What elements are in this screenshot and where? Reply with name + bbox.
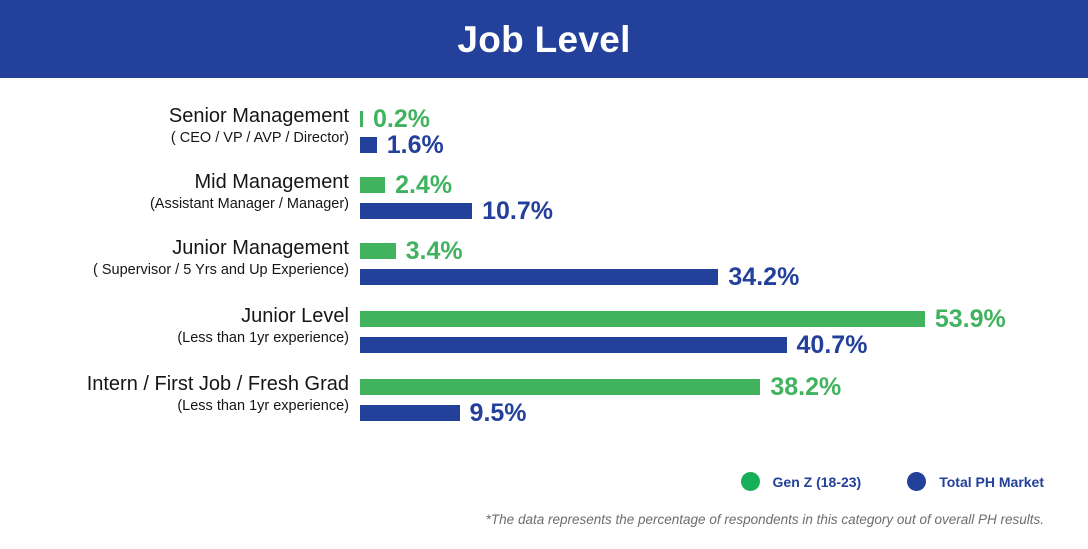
circle-icon [907,472,926,491]
bar-total-ph [360,137,377,153]
chart-plot-area: Senior Management( CEO / VP / AVP / Dire… [0,78,1088,458]
bar-row: 3.4% [360,240,1088,262]
bar-total-ph [360,203,472,219]
bar-genz [360,111,363,127]
bar-group: Mid Management(Assistant Manager / Manag… [0,170,1088,232]
bar-genz [360,243,396,259]
bar-value-label: 40.7% [797,333,868,358]
chart-title: Job Level [457,21,630,58]
category-label: Senior Management( CEO / VP / AVP / Dire… [0,104,360,148]
bar-genz [360,177,385,193]
bar-row: 9.5% [360,402,1088,424]
bar-row: 1.6% [360,134,1088,156]
legend-label: Gen Z (18-23) [773,474,862,490]
bars-block: 3.4%34.2% [360,236,1088,288]
bar-group: Intern / First Job / Fresh Grad(Less tha… [0,372,1088,434]
bar-value-label: 2.4% [395,173,452,198]
category-label-sub: ( Supervisor / 5 Yrs and Up Experience) [0,261,349,280]
category-label-sub: (Less than 1yr experience) [0,397,349,416]
bar-value-label: 34.2% [728,265,799,290]
category-label-main: Senior Management [0,104,349,129]
category-label-main: Junior Management [0,236,349,261]
bar-genz [360,379,760,395]
bars-block: 53.9%40.7% [360,304,1088,356]
bar-value-label: 10.7% [482,199,553,224]
bar-value-label: 38.2% [770,375,841,400]
bar-value-label: 53.9% [935,307,1006,332]
category-label-main: Mid Management [0,170,349,195]
bar-value-label: 1.6% [387,133,444,158]
bar-row: 0.2% [360,108,1088,130]
chart-header-bar: Job Level [0,0,1088,78]
category-label: Junior Level(Less than 1yr experience) [0,304,360,348]
bar-row: 10.7% [360,200,1088,222]
category-label-sub: ( CEO / VP / AVP / Director) [0,129,349,148]
category-label: Junior Management( Supervisor / 5 Yrs an… [0,236,360,280]
bar-row: 53.9% [360,308,1088,330]
category-label-main: Intern / First Job / Fresh Grad [0,372,349,397]
bars-block: 38.2%9.5% [360,372,1088,424]
bar-row: 34.2% [360,266,1088,288]
legend-label: Total PH Market [939,474,1044,490]
bar-total-ph [360,337,787,353]
bar-group: Senior Management( CEO / VP / AVP / Dire… [0,104,1088,166]
bar-genz [360,311,925,327]
legend-item: Total PH Market [907,472,1044,491]
bar-group: Junior Level(Less than 1yr experience)53… [0,304,1088,366]
chart-legend: Gen Z (18-23)Total PH Market [741,472,1044,491]
category-label-sub: (Assistant Manager / Manager) [0,195,349,214]
bar-value-label: 3.4% [406,239,463,264]
bar-row: 2.4% [360,174,1088,196]
circle-icon [741,472,760,491]
legend-item: Gen Z (18-23) [741,472,862,491]
bar-row: 38.2% [360,376,1088,398]
bar-value-label: 0.2% [373,107,430,132]
bars-block: 2.4%10.7% [360,170,1088,222]
bar-group: Junior Management( Supervisor / 5 Yrs an… [0,236,1088,298]
bar-total-ph [360,269,718,285]
bar-value-label: 9.5% [470,401,527,426]
category-label: Intern / First Job / Fresh Grad(Less tha… [0,372,360,416]
category-label-sub: (Less than 1yr experience) [0,329,349,348]
category-label-main: Junior Level [0,304,349,329]
bars-block: 0.2%1.6% [360,104,1088,156]
bar-total-ph [360,405,460,421]
bar-row: 40.7% [360,334,1088,356]
chart-footnote: *The data represents the percentage of r… [486,512,1044,527]
category-label: Mid Management(Assistant Manager / Manag… [0,170,360,214]
